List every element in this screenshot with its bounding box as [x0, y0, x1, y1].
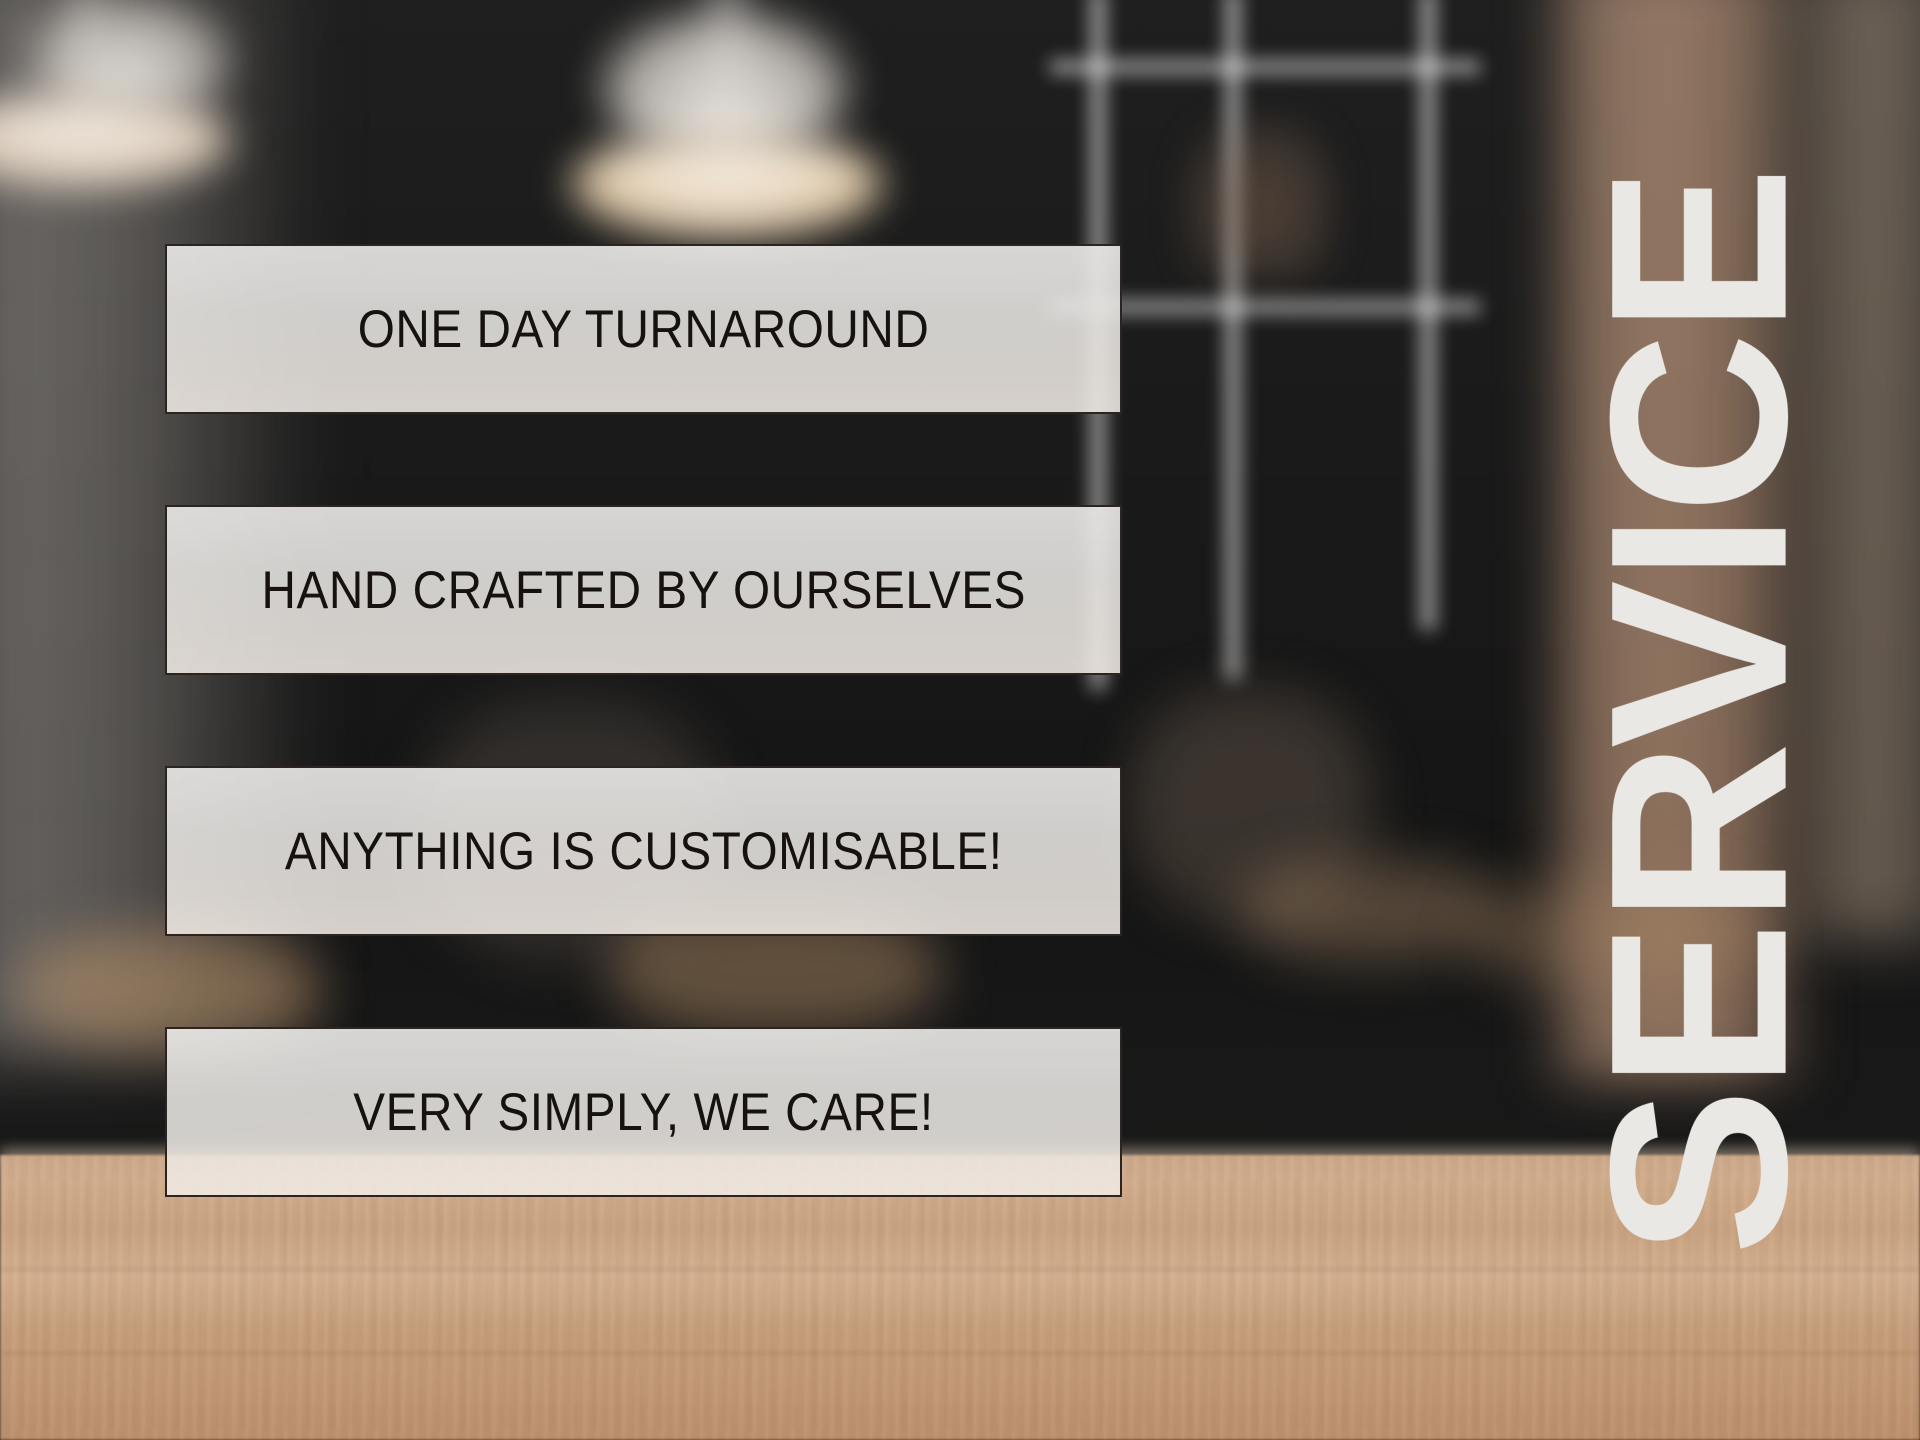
- feature-box-customisable: ANYTHING IS CUSTOMISABLE!: [165, 766, 1122, 936]
- window-silhouette: [1185, 120, 1335, 280]
- feature-box-hand-crafted: HAND CRAFTED BY OURSELVES: [165, 505, 1122, 675]
- feature-label: VERY SIMPLY, WE CARE!: [353, 1086, 933, 1139]
- service-slide: SERVICE ONE DAY TURNAROUND HAND CRAFTED …: [0, 0, 1920, 1440]
- background-bench-right-1: [1240, 860, 1500, 960]
- window-mullion-horizontal-1: [1050, 60, 1480, 74]
- window-mullion-vertical-3: [1420, 0, 1436, 630]
- pendant-lamp-shade-center: [572, 130, 882, 238]
- feature-box-one-day-turnaround: ONE DAY TURNAROUND: [165, 244, 1122, 414]
- service-vertical-heading: SERVICE: [1587, 168, 1814, 1256]
- feature-label: ANYTHING IS CUSTOMISABLE!: [285, 825, 1003, 878]
- feature-box-list: ONE DAY TURNAROUND HAND CRAFTED BY OURSE…: [165, 244, 1122, 1197]
- feature-label: HAND CRAFTED BY OURSELVES: [261, 564, 1026, 617]
- window-mullion-vertical-2: [1225, 0, 1241, 680]
- feature-label: ONE DAY TURNAROUND: [358, 303, 930, 356]
- feature-box-we-care: VERY SIMPLY, WE CARE!: [165, 1027, 1122, 1197]
